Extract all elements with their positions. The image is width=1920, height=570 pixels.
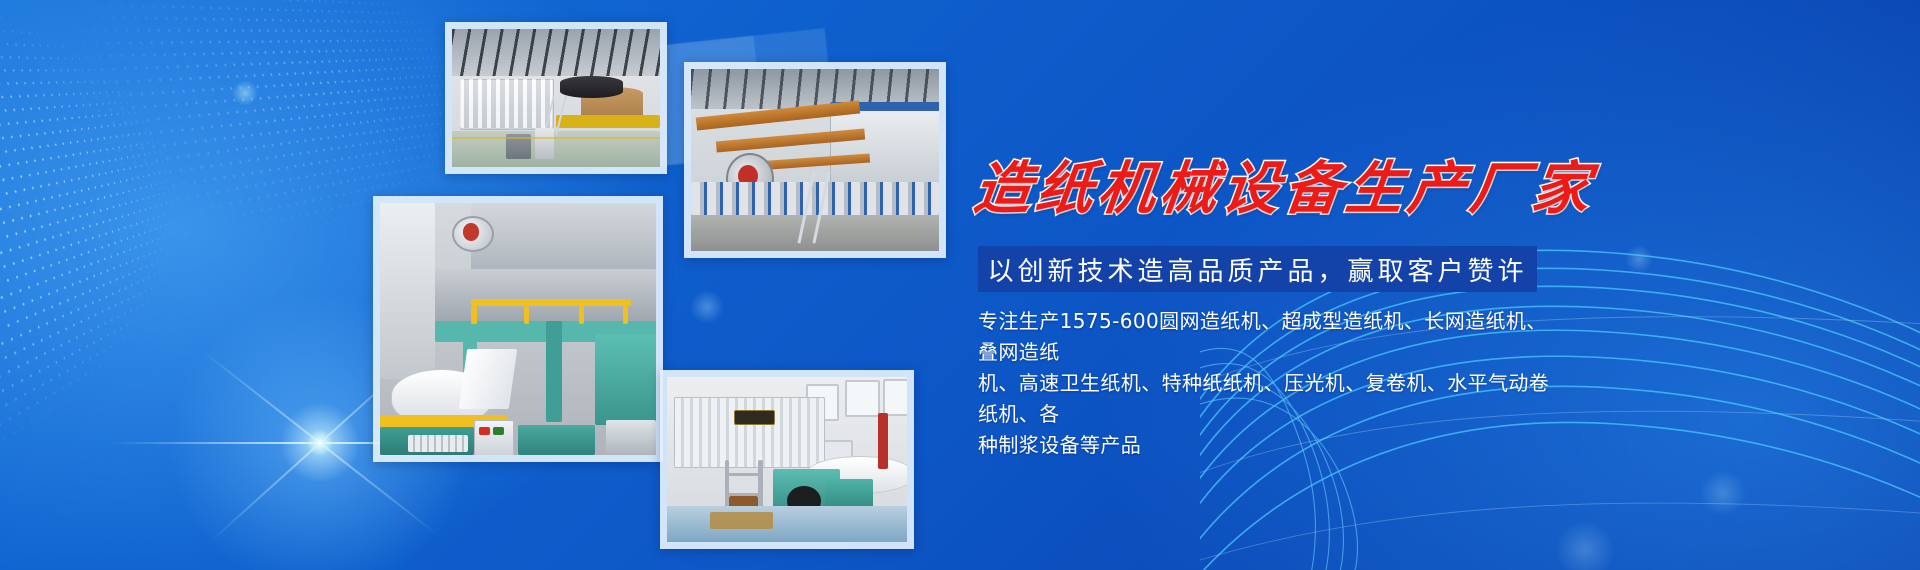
tissue-paper-machine-photo[interactable] — [660, 370, 914, 549]
subtitle-text: 以创新技术造高品质产品，赢取客户赞许 — [987, 251, 1527, 288]
description-line: 机、高速卫生纸机、特种纸纸机、压光机、复卷机、水平气动卷纸机、各 — [978, 368, 1566, 430]
paper-machine-workshop-photo[interactable] — [373, 196, 663, 462]
promo-banner: 造纸机械设备生产厂家 以创新技术造高品质产品，赢取客户赞许 专注生产1575-6… — [0, 0, 1920, 570]
bokeh-dot — [690, 290, 724, 324]
page-title: 造纸机械设备生产厂家 — [970, 143, 1600, 225]
star-flare-icon — [320, 443, 322, 445]
description-text: 专注生产1575-600圆网造纸机、超成型造纸机、长网造纸机、叠网造纸 机、高速… — [978, 306, 1566, 461]
subtitle-bar: 以创新技术造高品质产品，赢取客户赞许 — [978, 246, 1537, 292]
paper-machine-production-line-photo[interactable] — [445, 22, 667, 174]
description-line: 专注生产1575-600圆网造纸机、超成型造纸机、长网造纸机、叠网造纸 — [978, 306, 1566, 368]
description-line: 种制浆设备等产品 — [978, 430, 1566, 461]
paper-machine-dryer-section-photo[interactable] — [684, 62, 946, 258]
